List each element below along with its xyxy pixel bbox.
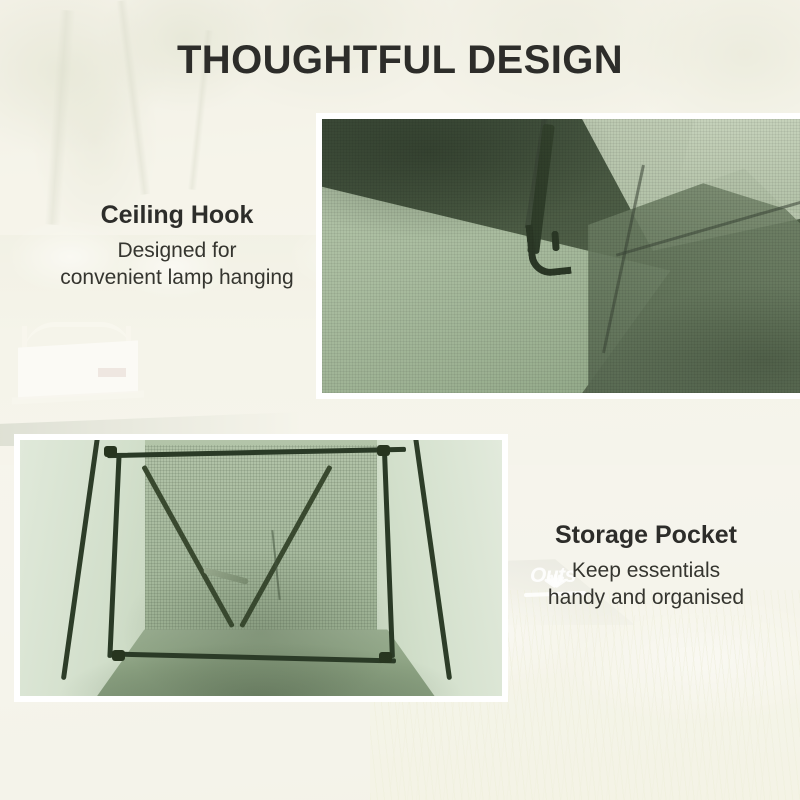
photo-shading — [20, 440, 502, 696]
feature-description-line: convenient lamp hanging — [22, 265, 332, 292]
feature-description-storage-pocket: Keep essentials handy and organised — [492, 558, 800, 612]
tent-ceiling-hook-photo — [316, 113, 800, 399]
hook-scene — [322, 119, 800, 393]
feature-description-line: Keep essentials — [492, 558, 800, 585]
tent-storage-pocket-photo — [14, 434, 508, 702]
pocket-scene — [20, 440, 502, 696]
page-title: THOUGHTFUL DESIGN — [0, 38, 800, 83]
feature-description-line: Designed for — [22, 238, 332, 265]
feature-ceiling-hook: Ceiling Hook Designed for convenient lam… — [22, 200, 332, 292]
photo-inner — [322, 119, 800, 393]
feature-description-ceiling-hook: Designed for convenient lamp hanging — [22, 238, 332, 292]
infographic-canvas: THOUGHTFUL DESIGN — [0, 0, 800, 800]
feature-description-line: handy and organised — [492, 585, 800, 612]
feature-title-ceiling-hook: Ceiling Hook — [22, 200, 332, 231]
photo-inner — [20, 440, 502, 696]
feature-title-storage-pocket: Storage Pocket — [492, 520, 800, 551]
photo-shading — [322, 119, 800, 393]
feature-storage-pocket: Storage Pocket Keep essentials handy and… — [492, 520, 800, 612]
